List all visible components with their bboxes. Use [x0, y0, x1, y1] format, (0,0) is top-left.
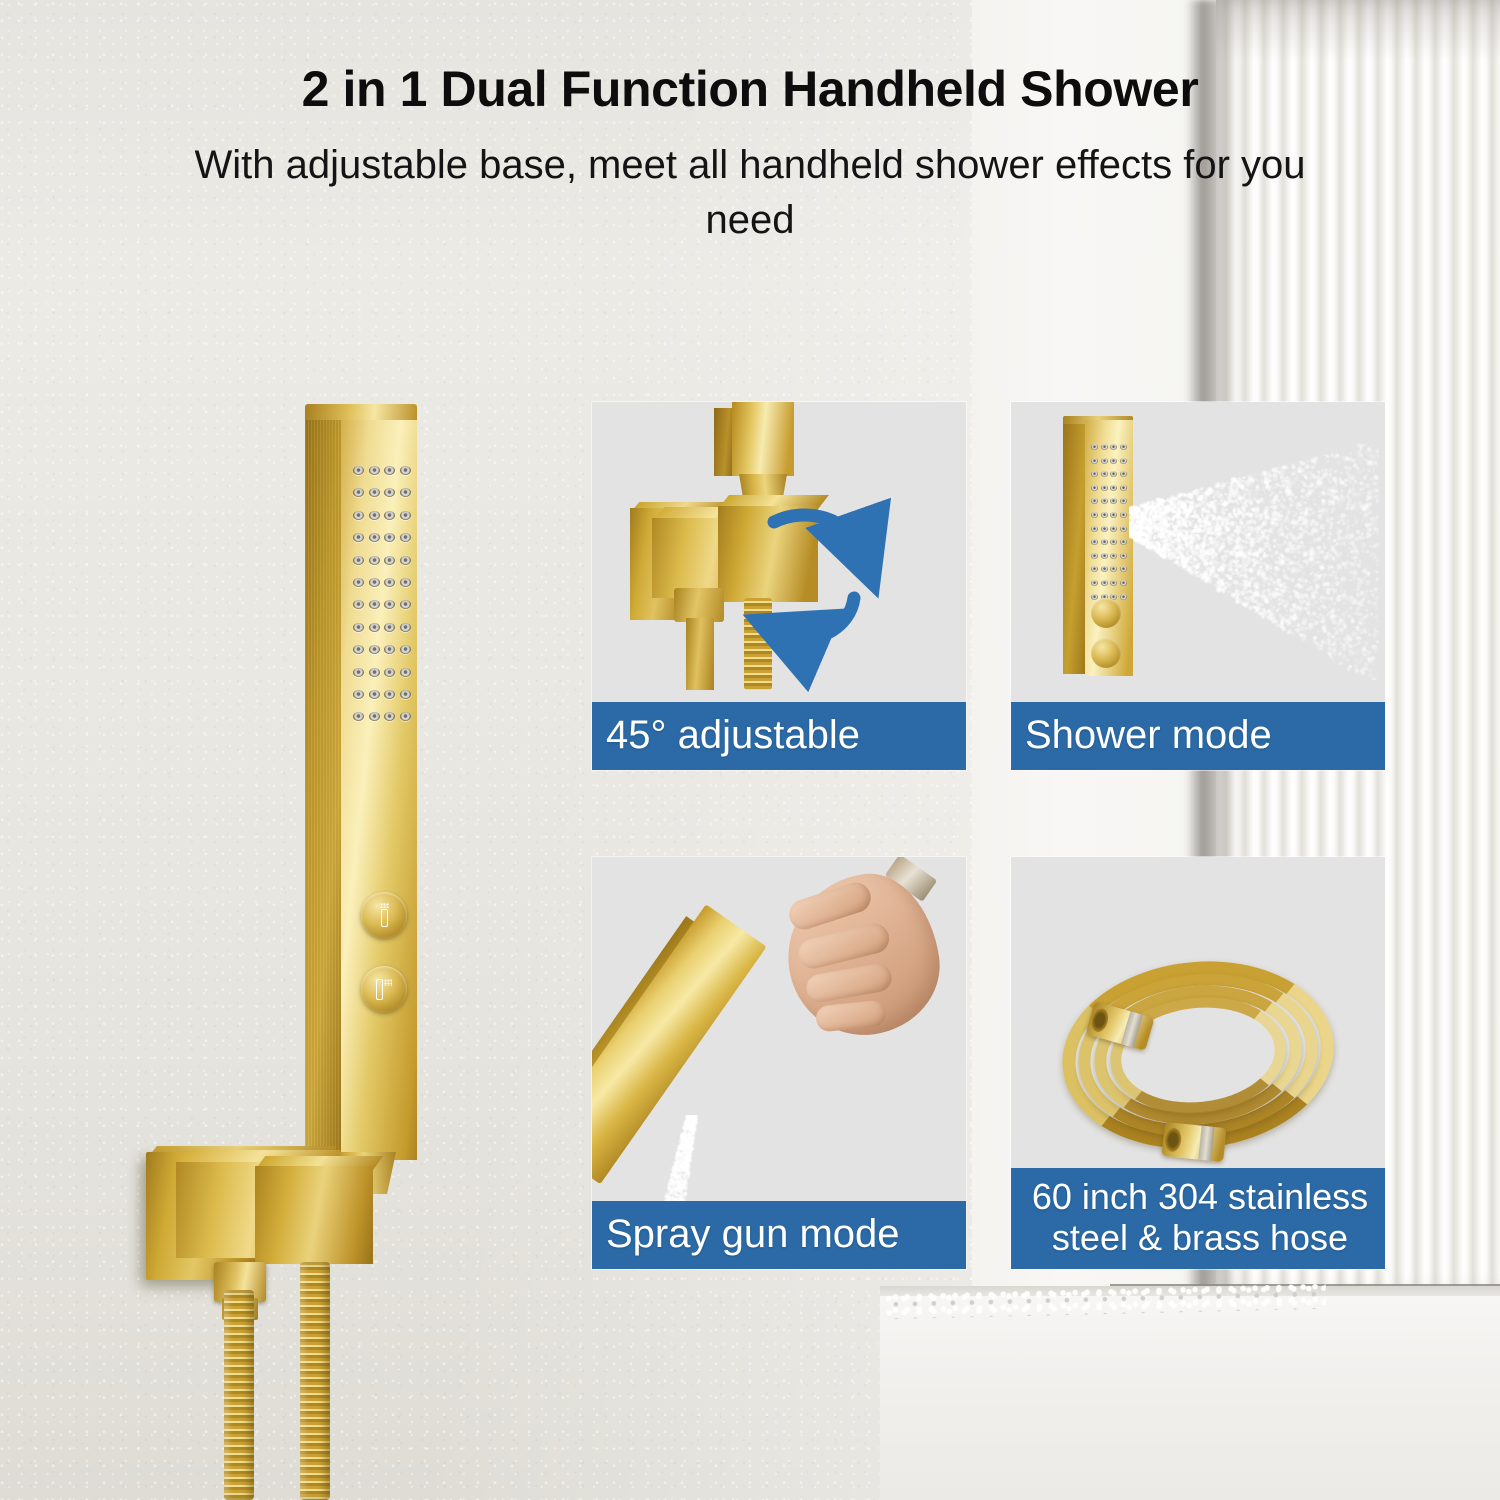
nozzle [1110, 526, 1117, 532]
nozzle [1120, 539, 1127, 545]
nozzle [1091, 458, 1098, 464]
nozzle [1101, 498, 1108, 504]
nozzle [1120, 444, 1127, 450]
nozzle [1101, 580, 1108, 586]
nozzle [353, 600, 364, 609]
nozzle [369, 668, 380, 677]
nozzle [353, 466, 364, 475]
nozzle [384, 556, 395, 565]
nozzle [369, 511, 380, 520]
nozzle [369, 533, 380, 542]
nozzle-row [1091, 498, 1127, 504]
nozzle-row [353, 511, 411, 520]
nozzle [400, 533, 411, 542]
nozzle [400, 488, 411, 497]
hose-connector-lower [1161, 1122, 1226, 1162]
handheld-shower-wand [305, 404, 417, 1164]
nozzle-row [1091, 526, 1127, 532]
nozzle-row [1091, 458, 1127, 464]
nozzle [1091, 471, 1098, 477]
nozzle [400, 645, 411, 654]
panel-shower-mode[interactable]: Shower mode [1011, 402, 1385, 770]
nozzle-row [1091, 553, 1127, 559]
nozzle [369, 556, 380, 565]
nozzle [1110, 444, 1117, 450]
nozzle [1110, 566, 1117, 572]
nozzle [400, 712, 411, 721]
caption-hose: 60 inch 304 stainless steel & brass hose [1011, 1168, 1385, 1270]
nozzle-row [353, 600, 411, 609]
nozzle [1091, 512, 1098, 518]
nozzle [1120, 580, 1127, 586]
nozzle [400, 466, 411, 475]
shower-hose-left [224, 1290, 254, 1500]
nozzle [1101, 444, 1108, 450]
nozzle-row [353, 488, 411, 497]
nozzle-array [353, 466, 411, 735]
nozzle [1120, 471, 1127, 477]
nozzle [1091, 485, 1098, 491]
nozzle [400, 690, 411, 699]
nozzle [353, 578, 364, 587]
nozzle [400, 578, 411, 587]
nozzle [369, 690, 380, 699]
spray-side-icon [376, 977, 392, 1001]
wand-top-cap [305, 404, 417, 420]
nozzle [1101, 512, 1108, 518]
nozzle [1091, 566, 1098, 572]
panel-spray-gun-mode[interactable]: Spray gun mode [592, 857, 966, 1269]
nozzle [1110, 458, 1117, 464]
nozzle [1101, 458, 1108, 464]
nozzle [353, 645, 364, 654]
caption-spray-gun-mode: Spray gun mode [592, 1201, 966, 1269]
nozzle-row [1091, 512, 1127, 518]
nozzle [384, 533, 395, 542]
nozzle [1091, 498, 1098, 504]
nozzle [1091, 444, 1098, 450]
panel-45-adjustable[interactable]: 45° adjustable [592, 402, 966, 770]
caption-hose-line1: 60 inch 304 stainless [1025, 1176, 1375, 1218]
nozzle [400, 600, 411, 609]
headings-block: 2 in 1 Dual Function Handheld Shower Wit… [0, 0, 1500, 248]
p1-shower-mode-button [1091, 598, 1121, 628]
nozzle [400, 623, 411, 632]
nozzle [384, 578, 395, 587]
nozzle [353, 488, 364, 497]
nozzle [1101, 566, 1108, 572]
nozzle [1091, 539, 1098, 545]
shower-hose-right [300, 1262, 330, 1500]
shower-mode-button[interactable] [361, 892, 407, 938]
bathtub-countertop [880, 1296, 1500, 1500]
nozzle [353, 690, 364, 699]
caption-hose-line2: steel & brass hose [1025, 1217, 1375, 1259]
nozzle [384, 623, 395, 632]
nozzle-row [353, 712, 411, 721]
wand-side-face [305, 412, 343, 1160]
nozzle [400, 668, 411, 677]
nozzle-row [353, 466, 411, 475]
p1-spray-gun-button [1091, 638, 1121, 668]
nozzle [1110, 471, 1117, 477]
nozzle [1110, 580, 1117, 586]
nozzle-row [353, 578, 411, 587]
page-title: 2 in 1 Dual Function Handheld Shower [0, 62, 1500, 116]
nozzle [400, 511, 411, 520]
nozzle-row [353, 533, 411, 542]
nozzle-row [1091, 471, 1127, 477]
nozzle [1120, 553, 1127, 559]
nozzle-row [1091, 580, 1127, 586]
bracket-holder-block [255, 1166, 373, 1264]
nozzle [1110, 539, 1117, 545]
nozzle-row [1091, 539, 1127, 545]
spray-down-icon [378, 903, 391, 927]
caption-45-adjustable: 45° adjustable [592, 702, 966, 770]
nozzle [1101, 485, 1108, 491]
page-subtitle: With adjustable base, meet all handheld … [0, 138, 1500, 248]
caption-shower-mode: Shower mode [1011, 702, 1385, 770]
nozzle [1101, 539, 1108, 545]
nozzle [384, 600, 395, 609]
nozzle [369, 488, 380, 497]
nozzle-row [1091, 485, 1127, 491]
nozzle [1110, 512, 1117, 518]
nozzle [1101, 471, 1108, 477]
nozzle [384, 511, 395, 520]
water-mist-spray [1129, 430, 1379, 680]
nozzle [369, 466, 380, 475]
nozzle [1091, 526, 1098, 532]
nozzle [384, 645, 395, 654]
nozzle [384, 488, 395, 497]
nozzle [353, 623, 364, 632]
nozzle [1101, 526, 1108, 532]
p1-nozzle-array [1091, 444, 1127, 607]
nozzle [353, 668, 364, 677]
nozzle-row [353, 668, 411, 677]
nozzle [1120, 485, 1127, 491]
nozzle-row [353, 690, 411, 699]
nozzle [353, 533, 364, 542]
nozzle [1101, 553, 1108, 559]
nozzle [1110, 553, 1117, 559]
spray-gun-mode-button[interactable] [361, 966, 407, 1012]
panel-hose[interactable]: 60 inch 304 stainless steel & brass hose [1011, 857, 1385, 1269]
nozzle [1120, 498, 1127, 504]
nozzle [1120, 512, 1127, 518]
feature-panel-grid: 45° adjustable Shower mode Spray gun mod [592, 402, 1386, 1268]
nozzle [1120, 566, 1127, 572]
nozzle [1120, 458, 1127, 464]
p1-wand-side [1063, 424, 1087, 674]
nozzle [1110, 485, 1117, 491]
nozzle [384, 668, 395, 677]
nozzle [1091, 594, 1098, 600]
nozzle [1091, 580, 1098, 586]
nozzle-row [1091, 566, 1127, 572]
nozzle [369, 578, 380, 587]
nozzle [1091, 553, 1098, 559]
nozzle [369, 623, 380, 632]
nozzle-row [353, 556, 411, 565]
nozzle [369, 600, 380, 609]
nozzle [1120, 526, 1127, 532]
nozzle [369, 712, 380, 721]
nozzle-row [1091, 444, 1127, 450]
nozzle [1120, 594, 1127, 600]
nozzle [384, 712, 395, 721]
nozzle [400, 556, 411, 565]
nozzle [384, 466, 395, 475]
nozzle [353, 511, 364, 520]
nozzle [1110, 498, 1117, 504]
nozzle-row [353, 623, 411, 632]
nozzle [369, 645, 380, 654]
nozzle [353, 556, 364, 565]
nozzle [384, 690, 395, 699]
nozzle [353, 712, 364, 721]
nozzle-row [353, 645, 411, 654]
